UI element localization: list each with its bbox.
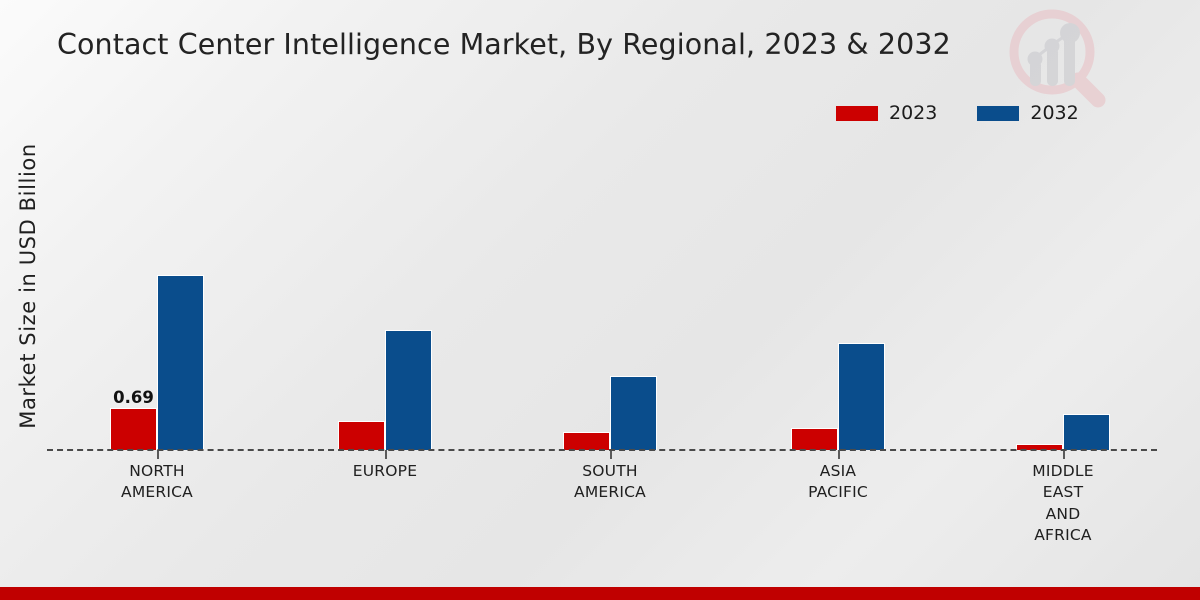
x-axis-label-line: NORTH — [67, 461, 247, 482]
legend-label-2023: 2023 — [889, 104, 937, 123]
x-axis-label-line: AMERICA — [520, 482, 700, 503]
x-axis-label: NORTHAMERICA — [67, 461, 247, 504]
bar-2032[interactable] — [838, 343, 885, 450]
x-axis-label-line: SOUTH — [520, 461, 700, 482]
legend-item-2032[interactable]: 2032 — [977, 104, 1078, 123]
x-axis-label-line: AFRICA — [973, 525, 1153, 546]
bar-group — [563, 140, 657, 450]
chart-canvas: Contact Center Intelligence Market, By R… — [0, 0, 1200, 600]
bar-group-bars: 0.69 — [110, 140, 204, 450]
x-axis-label-line: AND — [973, 504, 1153, 525]
legend-label-2032: 2032 — [1030, 104, 1078, 123]
bar-group-bars — [338, 140, 432, 450]
plot-area: 0.69 — [47, 140, 1157, 450]
bar-2032[interactable] — [157, 275, 204, 450]
y-axis-title: Market Size in USD Billion — [16, 121, 40, 451]
bar-2032[interactable] — [1063, 414, 1110, 450]
x-axis-label-line: AMERICA — [67, 482, 247, 503]
chart-title: Contact Center Intelligence Market, By R… — [57, 28, 951, 61]
bar-2023[interactable]: 0.69 — [110, 408, 157, 450]
legend-swatch-2032 — [977, 106, 1019, 121]
x-axis-tick — [1063, 450, 1065, 459]
bar-group-bars — [791, 140, 885, 450]
bar-group: 0.69 — [110, 140, 204, 450]
bar-2032[interactable] — [385, 330, 432, 450]
bar-2023[interactable] — [338, 421, 385, 450]
chart-legend: 2023 2032 — [836, 104, 1079, 123]
x-axis-label: ASIAPACIFIC — [748, 461, 928, 504]
x-axis-baseline — [47, 449, 1157, 451]
legend-swatch-2023 — [836, 106, 878, 121]
magnifier-bar-chart-logo-icon — [1000, 2, 1120, 114]
x-axis-label-line: MIDDLE — [973, 461, 1153, 482]
x-axis-label-line: PACIFIC — [748, 482, 928, 503]
x-axis-label: SOUTHAMERICA — [520, 461, 700, 504]
bar-value-label: 0.69 — [113, 388, 154, 407]
bar-2023[interactable] — [791, 428, 838, 450]
x-axis-label-line: EUROPE — [295, 461, 475, 482]
bar-group — [338, 140, 432, 450]
bar-group — [791, 140, 885, 450]
x-axis-label: EUROPE — [295, 461, 475, 482]
x-axis-label: MIDDLEEASTANDAFRICA — [973, 461, 1153, 547]
bar-group-bars — [563, 140, 657, 450]
bar-2023[interactable] — [563, 432, 610, 450]
x-axis-tick — [838, 450, 840, 459]
x-axis-label-line: EAST — [973, 482, 1153, 503]
x-axis-tick — [385, 450, 387, 459]
x-axis-tick — [157, 450, 159, 459]
x-axis-tick — [610, 450, 612, 459]
bar-group — [1016, 140, 1110, 450]
footer-accent-bar — [0, 587, 1200, 600]
bar-2032[interactable] — [610, 376, 657, 450]
x-axis-label-line: ASIA — [748, 461, 928, 482]
legend-item-2023[interactable]: 2023 — [836, 104, 937, 123]
bar-group-bars — [1016, 140, 1110, 450]
